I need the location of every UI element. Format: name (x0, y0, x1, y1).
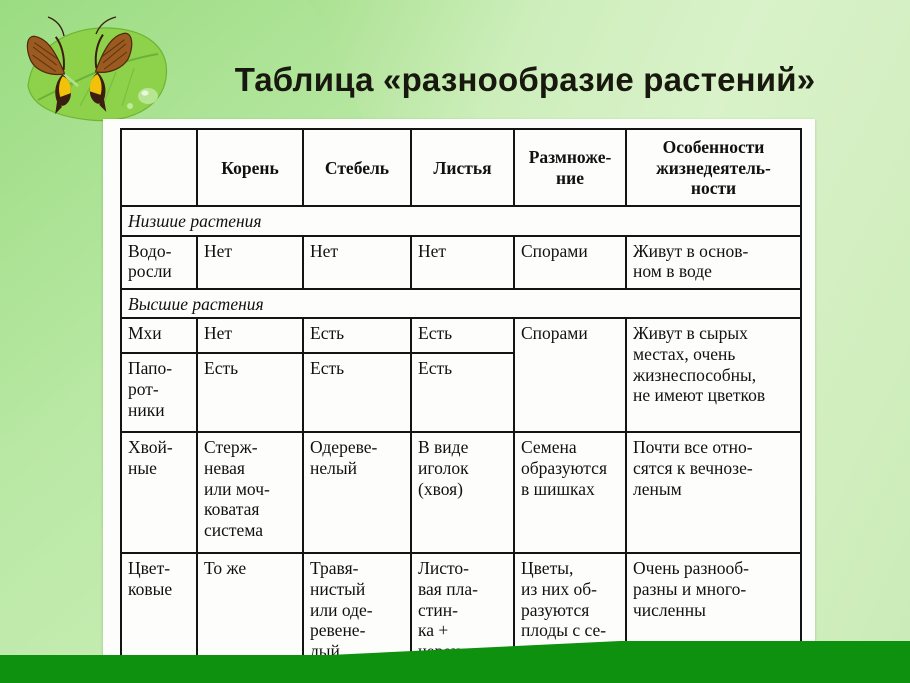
cell-conifers-root-line-5: система (204, 520, 263, 540)
table-header-row: Корень Стебель Листья Размноже- ние Особ… (121, 129, 801, 206)
cell-flowering-reproduction-line-1: Цветы, (521, 558, 573, 578)
cell-mosses-features-line-4: не имеют цветков (633, 385, 765, 405)
column-header-root-line-1: Корень (221, 158, 278, 178)
cell-mosses-root-line-1: Нет (204, 323, 232, 343)
cell-conifers-reproduction-line-3: в шишках (521, 479, 595, 499)
cell-algae-leaves-line-1: Нет (418, 241, 446, 261)
cell-conifers-stem-line-2: нелый (310, 458, 357, 478)
column-header-stem-line-1: Стебель (325, 158, 389, 178)
cell-flowering-stem-line-1: Травя- (310, 558, 358, 578)
row-name-conifers-line-1: Хвой- (128, 437, 173, 457)
page-title: Таблица «разнообразие растений» (160, 62, 890, 98)
cell-flowering-leaves-line-2: вая пла- (418, 579, 478, 599)
cell-algae-leaves: Нет (411, 236, 514, 289)
row-name-conifers-line-2: ные (128, 458, 157, 478)
cell-conifers-root: Стерж- невая или моч- коватая система (197, 432, 303, 553)
cell-conifers-features-line-3: леным (633, 479, 682, 499)
cell-algae-root: Нет (197, 236, 303, 289)
row-name-mosses: Мхи (121, 318, 197, 353)
row-name-ferns-line-2: рот- (128, 379, 159, 399)
column-header-leaves: Листья (411, 129, 514, 206)
cell-ferns-root: Есть (197, 353, 303, 432)
cell-ferns-stem-line-1: Есть (310, 358, 344, 378)
cell-algae-stem: Нет (303, 236, 411, 289)
cell-conifers-leaves-line-3: (хвоя) (418, 479, 463, 499)
cell-mosses-features-line-2: местах, очень (633, 344, 735, 364)
slide-root: Таблица «разнообразие растений» Корень С… (0, 0, 910, 683)
column-header-reproduction-line-1: Размноже- (529, 147, 612, 167)
cell-flowering-reproduction-line-2: из них об- (521, 579, 597, 599)
column-header-leaves-line-1: Листья (433, 158, 491, 178)
cell-flowering-features-line-2: разны и много- (633, 579, 746, 599)
cell-conifers-reproduction: Семена образуются в шишках (514, 432, 626, 553)
cell-mosses-features-line-1: Живут в сырых (633, 323, 748, 343)
cell-conifers-leaves-line-1: В виде (418, 437, 468, 457)
column-header-features-line-2: жизнедеятель- (656, 158, 771, 178)
cell-conifers-reproduction-line-1: Семена (521, 437, 577, 457)
cell-mosses-stem-line-1: Есть (310, 323, 344, 343)
group-label-higher-plants: Высшие растения (121, 289, 801, 319)
cell-mosses-root: Нет (197, 318, 303, 353)
row-name-ferns-line-1: Папо- (128, 358, 172, 378)
column-header-root: Корень (197, 129, 303, 206)
cell-flowering-stem-line-2: нистый (310, 579, 365, 599)
cell-flowering-reproduction-line-3: разуются (521, 600, 589, 620)
cell-conifers-root-line-4: коватая (204, 499, 259, 519)
cell-algae-reproduction-line-1: Спорами (521, 241, 588, 261)
cell-flowering-root-line-1: То же (204, 558, 246, 578)
table-row: Водо- росли Нет Нет Нет Спорами (121, 236, 801, 289)
cell-mosses-features-line-3: жизнеспособны, (633, 365, 756, 385)
cell-mosses-ferns-reproduction: Спорами (514, 318, 626, 432)
cell-flowering-leaves-line-1: Листо- (418, 558, 469, 578)
column-header-features-line-1: Особенности (663, 137, 765, 157)
cell-flowering-features-line-1: Очень разнооб- (633, 558, 749, 578)
cell-flowering-features-line-3: численны (633, 600, 706, 620)
cell-algae-reproduction: Спорами (514, 236, 626, 289)
column-header-reproduction-line-2: ние (556, 168, 584, 188)
plants-table: Корень Стебель Листья Размноже- ние Особ… (120, 128, 802, 681)
cell-algae-stem-line-1: Нет (310, 241, 338, 261)
cell-conifers-leaves-line-2: иголок (418, 458, 469, 478)
cell-conifers-stem: Одереве- нелый (303, 432, 411, 553)
row-name-ferns: Папо- рот- ники (121, 353, 197, 432)
column-header-features-line-3: ности (691, 178, 736, 198)
cell-algae-features-line-2: ном в воде (633, 261, 712, 281)
cell-conifers-reproduction-line-2: образуются (521, 458, 607, 478)
cell-mosses-leaves: Есть (411, 318, 514, 353)
cell-conifers-features: Почти все отно- сятся к вечнозе- леным (626, 432, 801, 553)
column-header-reproduction: Размноже- ние (514, 129, 626, 206)
cell-algae-root-line-1: Нет (204, 241, 232, 261)
cell-mosses-ferns-features: Живут в сырых местах, очень жизнеспособн… (626, 318, 801, 432)
cell-flowering-stem-line-3: или оде- (310, 600, 373, 620)
cell-conifers-root-line-2: невая (204, 458, 245, 478)
cell-conifers-root-line-1: Стерж- (204, 437, 258, 457)
row-name-algae: Водо- росли (121, 236, 197, 289)
cell-mosses-leaves-line-1: Есть (418, 323, 452, 343)
table-card: Корень Стебель Листья Размноже- ние Особ… (103, 119, 815, 659)
cell-flowering-stem-line-4: ревене- (310, 620, 365, 640)
cell-algae-features-line-1: Живут в основ- (633, 241, 748, 261)
cell-ferns-leaves-line-1: Есть (418, 358, 452, 378)
cell-flowering-reproduction-line-4: плоды с се- (521, 620, 606, 640)
cell-conifers-features-line-2: сятся к вечнозе- (633, 458, 753, 478)
cell-flowering-leaves-line-4: ка + (418, 620, 448, 640)
column-header-stem: Стебель (303, 129, 411, 206)
cell-ferns-root-line-1: Есть (204, 358, 238, 378)
cell-algae-features: Живут в основ- ном в воде (626, 236, 801, 289)
row-name-flowering-line-1: Цвет- (128, 558, 170, 578)
cell-conifers-root-line-3: или моч- (204, 479, 270, 499)
cell-mosses-stem: Есть (303, 318, 411, 353)
cell-flowering-leaves-line-3: стин- (418, 600, 458, 620)
table-row: Хвой- ные Стерж- невая или моч- коватая … (121, 432, 801, 553)
cell-conifers-leaves: В виде иголок (хвоя) (411, 432, 514, 553)
group-header-row-higher-plants: Высшие растения (121, 289, 801, 319)
cell-conifers-features-line-1: Почти все отно- (633, 437, 753, 457)
cell-conifers-stem-line-1: Одереве- (310, 437, 377, 457)
row-name-ferns-line-3: ники (128, 400, 165, 420)
cell-ferns-stem: Есть (303, 353, 411, 432)
group-label-lower-plants: Низшие растения (121, 206, 801, 236)
row-name-conifers: Хвой- ные (121, 432, 197, 553)
cell-mosses-reproduction-line-1: Спорами (521, 323, 588, 343)
row-name-algae-line-2: росли (128, 261, 172, 281)
group-header-row-lower-plants: Низшие растения (121, 206, 801, 236)
column-header-features: Особенности жизнедеятель- ности (626, 129, 801, 206)
cell-ferns-leaves: Есть (411, 353, 514, 432)
table-row: Мхи Нет Есть Есть Спорами Живу (121, 318, 801, 353)
row-name-algae-line-1: Водо- (128, 241, 171, 261)
row-name-flowering-line-2: ковые (128, 579, 172, 599)
column-header-blank (121, 129, 197, 206)
row-name-mosses-line-1: Мхи (128, 323, 162, 343)
